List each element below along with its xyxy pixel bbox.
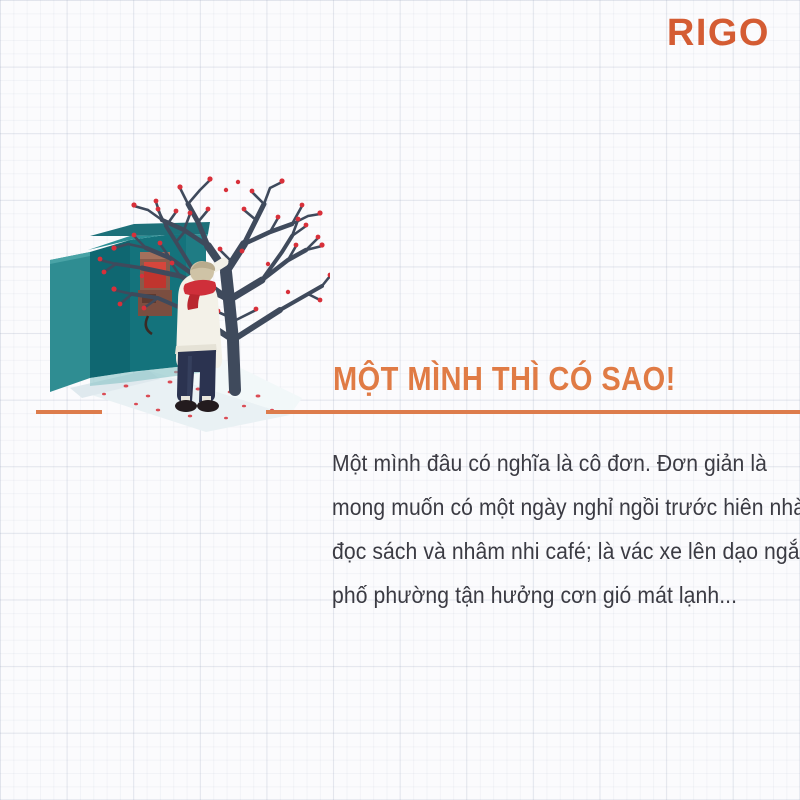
body-line: phố phường tận hưởng cơn gió mát lạnh... [332, 573, 755, 617]
poster-canvas: RIGO [0, 0, 800, 800]
illustration-phone-booth-tree [30, 160, 330, 435]
body-line: đọc sách và nhâm nhi café; là vác xe lên… [332, 529, 755, 573]
brand-logo: RIGO [667, 14, 770, 52]
booth-door [50, 252, 90, 392]
body-line: mong muốn có một ngày nghỉ ngồi trước hi… [332, 485, 755, 529]
body-copy: Một mình đâu có nghĩa là cô đơn. Đơn giả… [332, 441, 800, 617]
divider-accent-left [36, 410, 102, 414]
body-line: Một mình đâu có nghĩa là cô đơn. Đơn giả… [332, 441, 755, 485]
page-title: MỘT MÌNH THÌ CÓ SAO! [333, 362, 676, 397]
divider-accent-right [266, 410, 800, 414]
